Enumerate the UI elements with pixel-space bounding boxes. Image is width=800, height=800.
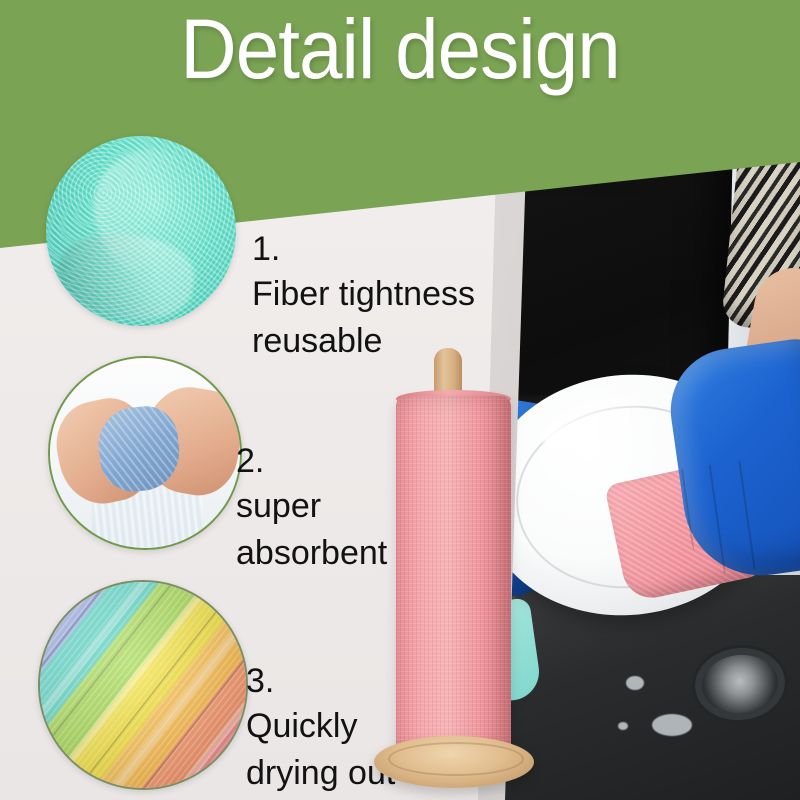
feature-text-1: 1. Fiber tightness reusable: [252, 228, 475, 366]
feature-image-1: [46, 136, 236, 326]
feature-text-3: 3. Quickly drying out: [246, 660, 395, 798]
pink-cloth-roll: [396, 396, 511, 756]
feature-number-1: 1.: [252, 228, 475, 271]
feature-image-3: [38, 580, 248, 790]
feature-text-2: 2. super absorbent: [236, 440, 387, 578]
product-detail-banner: Detail design 1. Fiber tightness reusabl…: [0, 0, 800, 800]
feature-line-3b: drying out: [246, 750, 395, 798]
holder-base-rim: [388, 742, 524, 776]
feature-number-3: 3.: [246, 660, 395, 703]
water-droplet: [652, 714, 692, 736]
feature-line-1a: Fiber tightness: [252, 271, 475, 319]
water-droplet: [626, 676, 644, 690]
feature-line-2a: super: [236, 483, 387, 531]
roll-vignette: [40, 582, 246, 788]
page-title: Detail design: [28, 4, 772, 95]
feature-number-2: 2.: [236, 440, 387, 483]
feature-line-2b: absorbent: [236, 530, 387, 578]
feature-image-2: [48, 356, 242, 550]
feature-line-3a: Quickly: [246, 703, 395, 751]
water-droplet: [618, 722, 628, 730]
glove-finger-creases: [681, 452, 800, 578]
